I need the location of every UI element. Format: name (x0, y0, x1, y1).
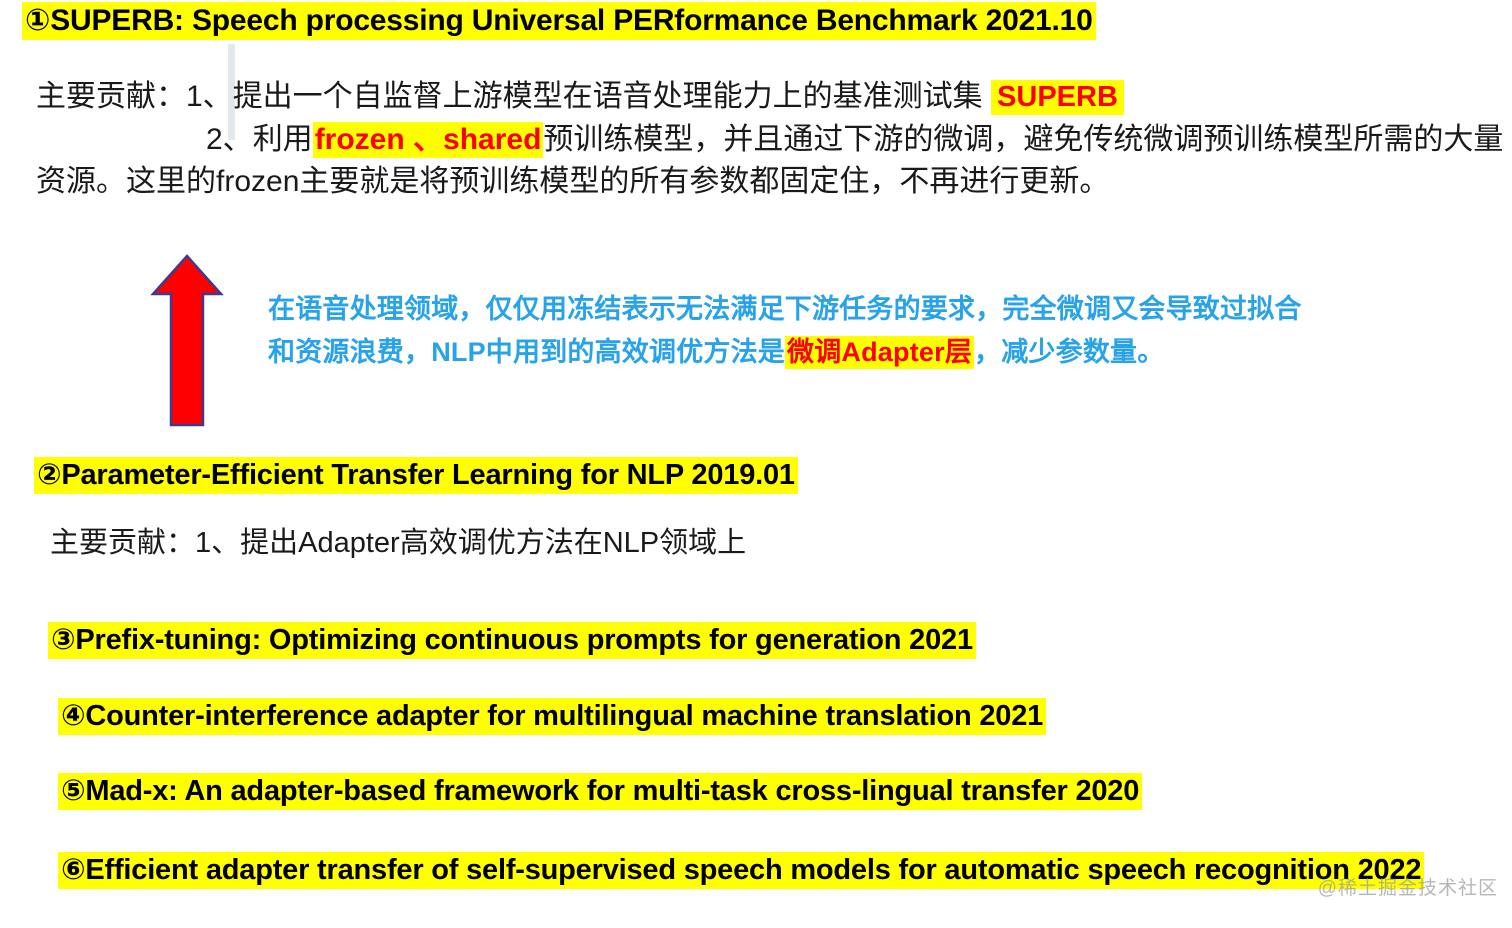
contribution-1-item2-before: 利用 (253, 123, 313, 156)
paper-marker-1: ① (25, 4, 50, 37)
paper-marker-6: ⑥ (61, 854, 85, 886)
commentary-note: 在语音处理领域，仅仅用冻结表示无法满足下游任务的要求，完全微调又会导致过拟合和资… (268, 288, 1328, 373)
contribution-block-2: 主要贡献：1、提出Adapter高效调优方法在NLP领域上 (50, 523, 1150, 564)
paper-title-text-3: Prefix-tuning: Optimizing continuous pro… (75, 624, 973, 656)
paper-marker-2: ② (37, 459, 61, 491)
contribution-1-item2-number: 2、 (206, 123, 253, 156)
frozen-shared-highlight: frozen 、shared (313, 122, 544, 158)
slide-canvas: ①SUPERB: Speech processing Universal PER… (0, 0, 1512, 928)
paper-title-1: ①SUPERB: Speech processing Universal PER… (22, 4, 1096, 38)
paper-title-text-1: SUPERB: Speech processing Universal PERf… (50, 4, 1092, 37)
paper-title-3: ③Prefix-tuning: Optimizing continuous pr… (48, 624, 976, 656)
contribution-1-line-1: 主要贡献：1、提出一个自监督上游模型在语音处理能力上的基准测试集 SUPERB (36, 76, 1512, 119)
paper-marker-3: ③ (51, 624, 75, 656)
red-up-arrow-icon (150, 253, 224, 428)
paper-title-2: ②Parameter-Efficient Transfer Learning f… (34, 459, 798, 491)
paper-title-text-6: Efficient adapter transfer of self-super… (85, 854, 1421, 886)
paper-title-text-4: Counter-interference adapter for multili… (85, 700, 1043, 732)
contribution-1-label: 主要贡献： (36, 80, 186, 113)
paper-marker-4: ④ (61, 700, 85, 732)
superb-highlight: SUPERB (991, 80, 1124, 115)
contribution-2-text: 主要贡献：1、提出Adapter高效调优方法在NLP领域上 (50, 527, 746, 559)
paper-title-text-2: Parameter-Efficient Transfer Learning fo… (61, 459, 794, 491)
paper-title-text-5: Mad-x: An adapter-based framework for mu… (85, 775, 1139, 807)
contribution-1-line-2: 2、利用frozen 、shared预训练模型，并且通过下游的微调，避免传统微调… (36, 119, 1512, 204)
paper-title-6: ⑥Efficient adapter transfer of self-supe… (58, 850, 1512, 891)
commentary-segment-2: ，减少参数量。 (974, 337, 1164, 367)
paper-title-4: ④Counter-interference adapter for multil… (58, 700, 1046, 732)
paper-marker-5: ⑤ (61, 775, 85, 807)
contribution-1-item1-number: 1、 (186, 80, 233, 113)
contribution-1-item1-text: 提出一个自监督上游模型在语音处理能力上的基准测试集 (233, 80, 991, 113)
contribution-block-1: 主要贡献：1、提出一个自监督上游模型在语音处理能力上的基准测试集 SUPERB … (36, 76, 1512, 204)
paper-title-5: ⑤Mad-x: An adapter-based framework for m… (58, 775, 1142, 807)
commentary-highlight: 微调Adapter层 (785, 336, 974, 369)
bottom-white-strip (0, 922, 1512, 928)
